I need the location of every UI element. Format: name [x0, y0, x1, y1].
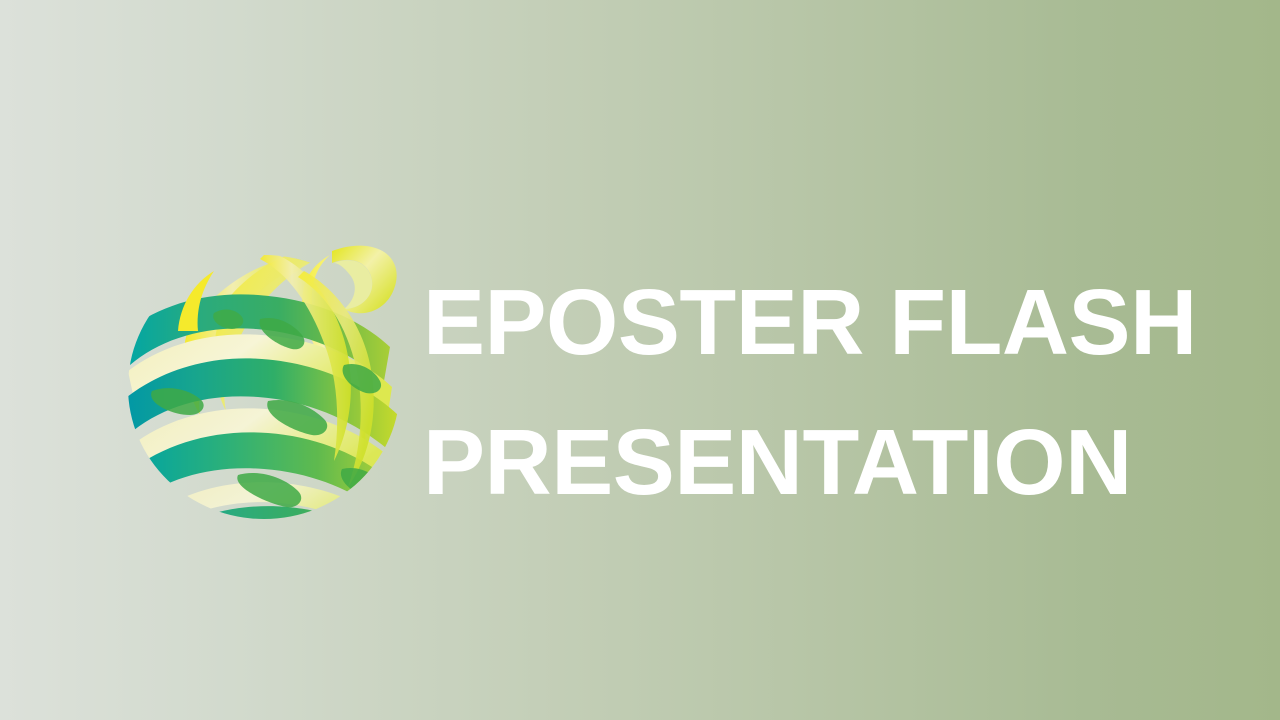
spiral-ribbon-globe-logo: [118, 205, 408, 520]
title-line-2: PRESENTATION: [423, 392, 1223, 532]
presentation-slide: EPOSTER FLASH PRESENTATION: [0, 0, 1280, 720]
title-line-1: EPOSTER FLASH: [423, 252, 1223, 392]
slide-title: EPOSTER FLASH PRESENTATION: [423, 252, 1223, 532]
